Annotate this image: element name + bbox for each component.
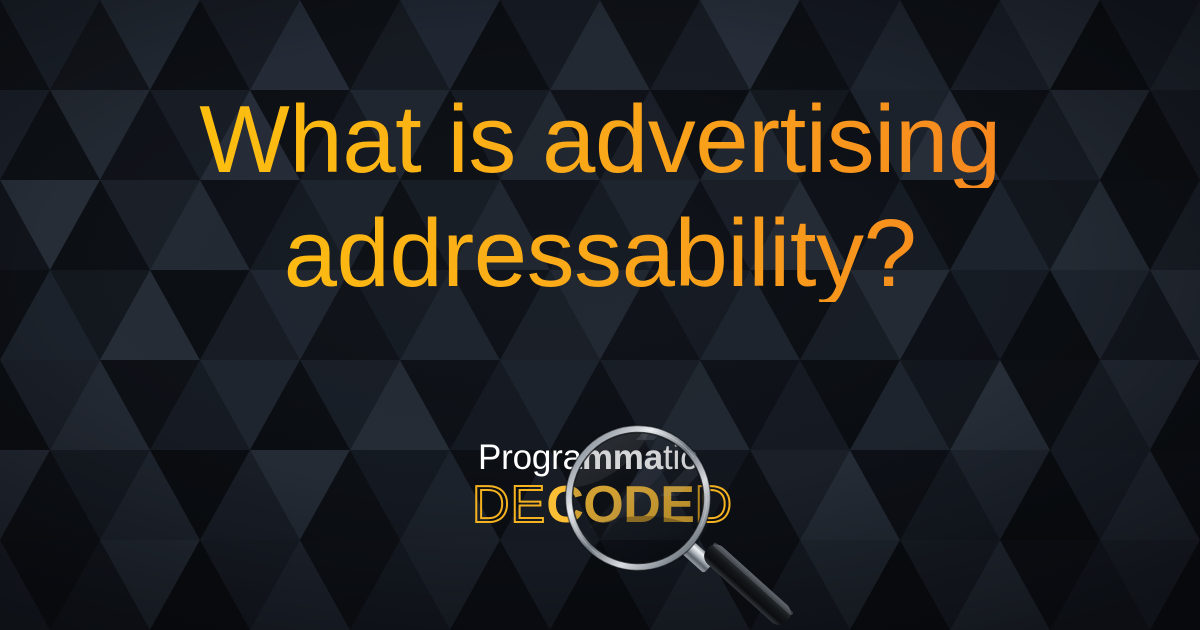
logo-word-programmatic: Programmatic — [478, 436, 697, 480]
logo-decoded-suffix: D — [695, 476, 734, 534]
page-title: What is advertising addressability? — [0, 92, 1200, 302]
logo-programmatic-part-3: tic — [663, 438, 697, 477]
logo-programmatic-part-1: Progra — [478, 438, 582, 477]
logo-decoded-magnified: CODE — [546, 476, 694, 534]
headline-line-2: addressability? — [0, 206, 1200, 302]
brand-logo: Programmatic DECODED — [470, 436, 770, 556]
headline-line-1: What is advertising — [0, 92, 1200, 188]
logo-programmatic-part-2: mma — [582, 438, 663, 477]
logo-decoded-prefix: DE — [472, 476, 546, 534]
share-card-canvas: What is advertising addressability? Prog… — [0, 0, 1200, 630]
logo-word-decoded: DECODED — [472, 476, 733, 534]
